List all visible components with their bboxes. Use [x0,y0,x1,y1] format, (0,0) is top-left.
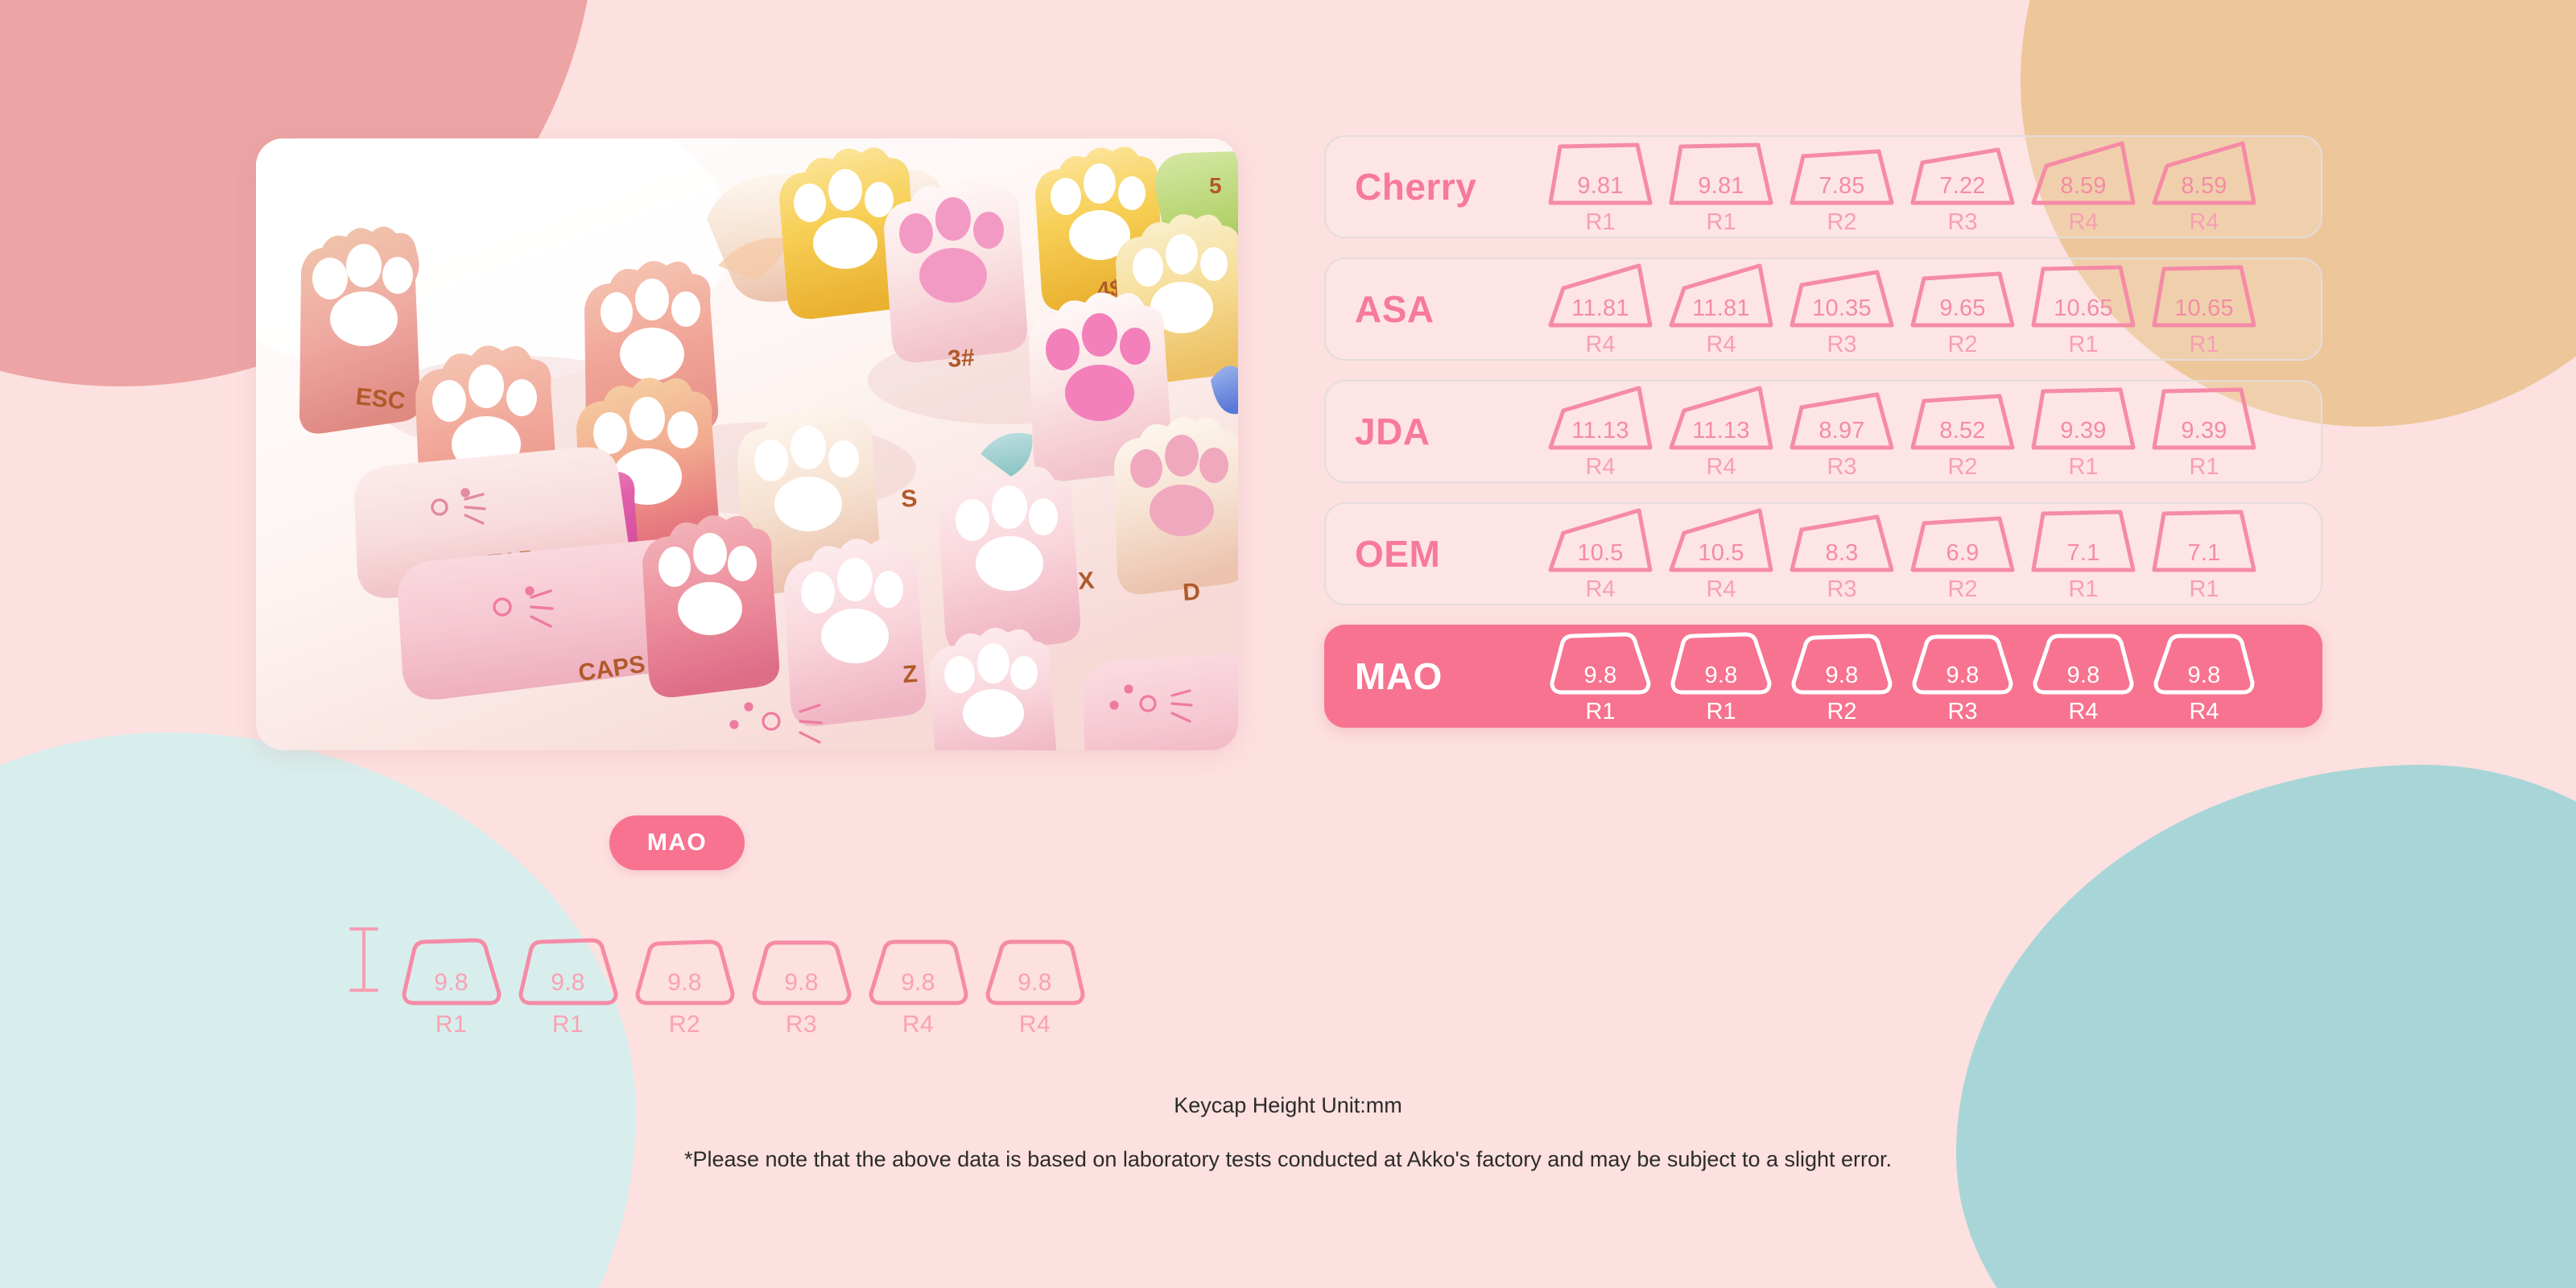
keycap-row-label: R4 [1706,332,1736,358]
profile-keycap-cell: 11.81 R4 [1540,261,1661,358]
keycap-row-label: R3 [1947,699,1977,725]
featured-keycap-cell: 9.8 R4 [860,934,976,1038]
keycap-row-label: R4 [1585,576,1615,603]
profile-keycap-cell: 9.8 R4 [2144,628,2264,725]
keycap-height-value: 10.5 [1547,540,1653,567]
profile-keycap-cell: 8.52 R2 [1902,383,2023,481]
svg-text:D: D [1182,579,1201,606]
keycap-outline: 9.8 [2030,628,2136,697]
keycap-outline: 8.3 [1789,506,1895,575]
keycap-outline: 11.81 [1668,261,1774,330]
featured-keycap-strip: 9.8 R1 9.8 R1 9.8 R2 9.8 R3 [346,918,1151,1038]
keycap-row-label: R4 [1019,1011,1051,1038]
keycap-height-value: 8.59 [2151,173,2257,200]
keycap-height-value: 11.13 [1547,418,1653,444]
keycap-row-label: R1 [1706,209,1736,236]
keycap-outline: 9.8 [1547,628,1653,697]
keycap-height-value: 11.13 [1668,418,1774,444]
keycap-outline: 7.1 [2151,506,2257,575]
keycap-outline: 7.85 [1789,138,1895,208]
keycap-outline: 8.52 [1909,383,2016,452]
svg-text:Z: Z [902,661,919,688]
keycap-row-label: R1 [2068,454,2098,481]
keycap-row-label: R2 [1947,454,1977,481]
keycap-outline: 9.8 [1909,628,2016,697]
keycap-height-value: 9.8 [1909,663,2016,689]
keycap-outline: 10.65 [2151,261,2257,330]
keycap-profile-infographic: ESC F1 [0,0,2576,1288]
profile-keycap-cell: 9.8 R2 [1781,628,1902,725]
keycap-outline: 10.5 [1547,506,1653,575]
profile-caps-row: 11.81 R4 11.81 R4 10.35 [1540,261,2264,358]
keycap-outline: 11.13 [1668,383,1774,452]
profile-keycap-cell: 8.3 R3 [1781,506,1902,603]
profile-keycap-cell: 11.13 R4 [1661,383,1781,481]
keycap-row-label: R2 [1827,699,1856,725]
keycap-row-label: R1 [2068,332,2098,358]
keycap-outline: 8.97 [1789,383,1895,452]
profile-keycap-cell: 10.65 R1 [2023,261,2144,358]
keycap-row-label: R3 [1827,332,1856,358]
keycap-row-label: R4 [1585,454,1615,481]
profile-keycap-cell: 9.8 R1 [1661,628,1781,725]
profile-name-label: MAO [1355,654,1540,698]
profile-caps-row: 9.81 R1 9.81 R1 7.85 [1540,138,2264,236]
keycap-outline: 9.8 [983,934,1088,1008]
keycap-height-value: 10.65 [2151,295,2257,322]
mao-badge-label: MAO [647,829,707,857]
keycap-row-label: R1 [552,1011,584,1038]
profile-row-asa[interactable]: ASA 11.81 R4 11.81 R4 [1324,258,2322,361]
keycap-outline: 10.5 [1668,506,1774,575]
profile-row-jda[interactable]: JDA 11.13 R4 11.13 R4 [1324,380,2322,483]
keycap-outline: 9.8 [399,934,504,1008]
featured-caps-list: 9.8 R1 9.8 R1 9.8 R2 9.8 R3 [393,934,1093,1038]
keycap-height-value: 9.39 [2151,418,2257,444]
featured-keycap-cell: 9.8 R4 [976,934,1093,1038]
keycap-height-value: 7.1 [2030,540,2136,567]
keycap-outline: 9.81 [1668,138,1774,208]
keycap-outline: 9.8 [866,934,971,1008]
keycap-height-value: 7.85 [1789,173,1895,200]
profile-keycap-cell: 10.65 R1 [2144,261,2264,358]
keycap-height-value: 8.52 [1909,418,2016,444]
keycap-row-label: R2 [1947,576,1977,603]
keycap-height-value: 9.81 [1547,173,1653,200]
profile-name-label: ASA [1355,287,1540,331]
keycap-height-value: 8.97 [1789,418,1895,444]
profile-keycap-cell: 9.81 R1 [1540,138,1661,236]
keycap-outline: 9.8 [1789,628,1895,697]
keycap-row-label: R1 [2189,332,2219,358]
svg-text:3#: 3# [947,345,976,373]
keycap-outline: 9.8 [516,934,621,1008]
svg-text:5: 5 [1209,173,1222,198]
keycap-outline: 9.8 [749,934,854,1008]
keycap-height-value: 7.22 [1909,173,2016,200]
profile-keycap-cell: 8.97 R3 [1781,383,1902,481]
keycap-height-value: 8.59 [2030,173,2136,200]
featured-keycap-cell: 9.8 R1 [510,934,626,1038]
featured-keycap-cell: 9.8 R1 [393,934,510,1038]
keycap-row-label: R4 [1706,454,1736,481]
height-caliper-icon [346,923,382,997]
profile-keycap-cell: 7.1 R1 [2023,506,2144,603]
featured-keycap-cell: 9.8 R3 [743,934,860,1038]
keycap-row-label: R1 [2189,454,2219,481]
keycap-height-value: 9.8 [2030,663,2136,689]
keycap-outline: 8.59 [2030,138,2136,208]
keycap-height-value: 9.65 [1909,295,2016,322]
profile-keycap-cell: 7.85 R2 [1781,138,1902,236]
profile-caps-row: 9.8 R1 9.8 R1 9.8 [1540,628,2264,725]
svg-text:X: X [1077,568,1095,595]
disclaimer-note: *Please note that the above data is base… [0,1147,2576,1172]
profile-keycap-cell: 9.65 R2 [1902,261,2023,358]
keycap-row-label: R2 [1947,332,1977,358]
svg-text:S: S [900,485,918,513]
keycap-outline: 9.8 [2151,628,2257,697]
keycap-height-value: 8.3 [1789,540,1895,567]
keycap-row-label: R4 [2068,209,2098,236]
profile-keycap-cell: 7.22 R3 [1902,138,2023,236]
profile-caps-row: 11.13 R4 11.13 R4 8.97 [1540,383,2264,481]
keycap-row-label: R1 [1585,699,1615,725]
keycap-row-label: R4 [1706,576,1736,603]
keycap-row-label: R1 [2189,576,2219,603]
profile-caps-row: 10.5 R4 10.5 R4 8.3 [1540,506,2264,603]
keycap-row-label: R2 [669,1011,700,1038]
keycap-height-value: 7.1 [2151,540,2257,567]
keycap-row-label: R3 [1827,576,1856,603]
keycap-outline: 6.9 [1909,506,2016,575]
profile-row-oem[interactable]: OEM 10.5 R4 10.5 R4 [1324,502,2322,605]
keycap-height-value: 9.8 [1668,663,1774,689]
keycap-height-value: 9.8 [633,969,737,997]
profile-keycap-cell: 10.5 R4 [1661,506,1781,603]
keycap-height-value: 9.8 [866,969,971,997]
keycap-row-label: R1 [1706,699,1736,725]
profile-name-label: Cherry [1355,165,1540,208]
keycap-outline: 11.13 [1547,383,1653,452]
keycap-row-label: R3 [1947,209,1977,236]
featured-keycap-cell: 9.8 R2 [626,934,743,1038]
profile-comparison-list: Cherry 9.81 R1 9.81 R1 [1324,135,2322,747]
keycap-photo-illustration: ESC F1 [256,138,1238,750]
keycap-product-photo: ESC F1 [256,138,1238,750]
profile-name-label: OEM [1355,532,1540,576]
keycap-height-value: 9.39 [2030,418,2136,444]
profile-keycap-cell: 11.13 R4 [1540,383,1661,481]
keycap-height-value: 9.81 [1668,173,1774,200]
keycap-height-value: 9.8 [399,969,504,997]
keycap-height-value: 9.8 [2151,663,2257,689]
profile-keycap-cell: 11.81 R4 [1661,261,1781,358]
keycap-height-value: 9.8 [516,969,621,997]
profile-keycap-cell: 9.39 R1 [2144,383,2264,481]
keycap-outline: 9.8 [633,934,737,1008]
keycap-height-value: 6.9 [1909,540,2016,567]
keycap-row-label: R4 [902,1011,934,1038]
keycap-outline: 9.39 [2030,383,2136,452]
keycap-row-label: R4 [2068,699,2098,725]
keycap-outline: 11.81 [1547,261,1653,330]
profile-keycap-cell: 9.8 R3 [1902,628,2023,725]
keycap-row-label: R1 [436,1011,467,1038]
keycap-outline: 10.35 [1789,261,1895,330]
keycap-height-value: 9.8 [749,969,854,997]
decorative-blob-bottom-right [1956,765,2576,1288]
keycap-outline: 9.81 [1547,138,1653,208]
mao-profile-badge[interactable]: MAO [609,815,745,870]
profile-keycap-cell: 10.5 R4 [1540,506,1661,603]
profile-row-cherry[interactable]: Cherry 9.81 R1 9.81 R1 [1324,135,2322,238]
keycap-outline: 9.39 [2151,383,2257,452]
keycap-outline: 9.65 [1909,261,2016,330]
keycap-row-label: R4 [2189,209,2219,236]
keycap-row-label: R3 [786,1011,817,1038]
keycap-row-label: R4 [2189,699,2219,725]
keycap-height-value: 10.65 [2030,295,2136,322]
profile-row-mao[interactable]: MAO 9.8 R1 9.8 R1 [1324,625,2322,728]
keycap-row-label: R3 [1827,454,1856,481]
profile-keycap-cell: 7.1 R1 [2144,506,2264,603]
keycap-outline: 7.22 [1909,138,2016,208]
profile-name-label: JDA [1355,410,1540,453]
keycap-row-label: R1 [1585,209,1615,236]
keycap-outline: 9.8 [1668,628,1774,697]
profile-keycap-cell: 8.59 R4 [2144,138,2264,236]
profile-keycap-cell: 6.9 R2 [1902,506,2023,603]
profile-keycap-cell: 8.59 R4 [2023,138,2144,236]
keycap-height-value: 9.8 [1547,663,1653,689]
keycap-height-value: 11.81 [1668,295,1774,322]
keycap-height-value: 11.81 [1547,295,1653,322]
profile-keycap-cell: 9.8 R4 [2023,628,2144,725]
profile-keycap-cell: 9.81 R1 [1661,138,1781,236]
keycap-row-label: R4 [1585,332,1615,358]
svg-text:ESC: ESC [354,383,407,415]
profile-keycap-cell: 9.8 R1 [1540,628,1661,725]
keycap-height-value: 10.5 [1668,540,1774,567]
keycap-height-value: 9.8 [1789,663,1895,689]
keycap-outline: 10.65 [2030,261,2136,330]
profile-keycap-cell: 10.35 R3 [1781,261,1902,358]
keycap-height-value: 9.8 [983,969,1088,997]
keycap-outline: 7.1 [2030,506,2136,575]
unit-note: Keycap Height Unit:mm [0,1093,2576,1118]
keycap-row-label: R1 [2068,576,2098,603]
keycap-outline: 8.59 [2151,138,2257,208]
profile-keycap-cell: 9.39 R1 [2023,383,2144,481]
keycap-row-label: R2 [1827,209,1856,236]
keycap-height-value: 10.35 [1789,295,1895,322]
